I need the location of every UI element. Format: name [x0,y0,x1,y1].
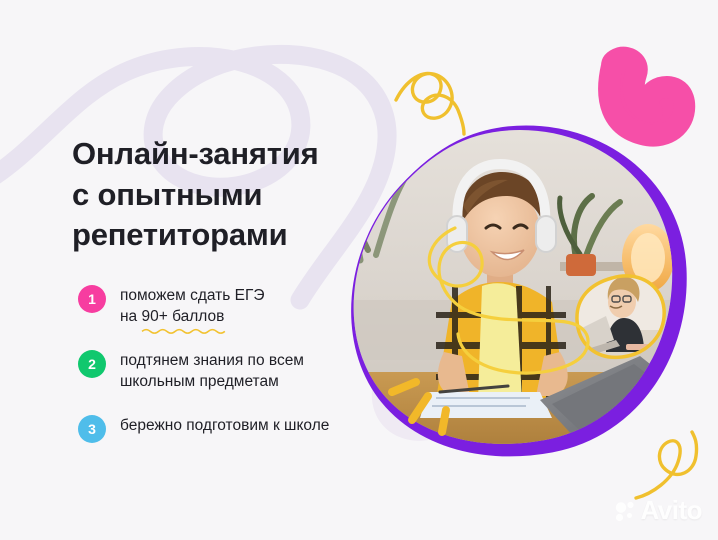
list-item: 2 подтянем знания по всем школьным предм… [78,349,378,392]
bullet-badge-3: 3 [78,415,106,443]
headline-line-1: Онлайн-занятия [72,134,402,175]
page-title: Онлайн-занятия с опытными репетиторами [72,134,402,256]
highlighted-score: 90+ баллов [142,307,225,328]
bullet-badge-2: 2 [78,350,106,378]
avito-logo-icon [613,499,637,523]
bullet-text-1: поможем сдать ЕГЭ на 90+ баллов [120,284,265,327]
bullet-2-line-2: школьным предметам [120,372,304,393]
headline-line-2: с опытными [72,175,402,216]
bullet-2-line-1: подтянем знания по всем [120,351,304,372]
list-item: 1 поможем сдать ЕГЭ на 90+ баллов [78,284,378,327]
text-layer: Онлайн-занятия с опытными репетиторами 1… [0,0,718,540]
bullet-text-2: подтянем знания по всем школьным предмет… [120,349,304,392]
wavy-underline-icon [142,327,225,334]
bullet-1-line-2: на 90+ баллов [120,307,265,328]
benefits-list: 1 поможем сдать ЕГЭ на 90+ баллов 2 подт… [78,284,378,465]
list-item: 3 бережно подготовим к школе [78,414,378,443]
bullet-1-line-1: поможем сдать ЕГЭ [120,286,265,307]
headline-line-3: репетиторами [72,215,402,256]
bullet-badge-1: 1 [78,285,106,313]
avito-wordmark: Avito [640,495,702,526]
bullet-3-line-1: бережно подготовим к школе [120,416,329,437]
promo-banner: Онлайн-занятия с опытными репетиторами 1… [0,0,718,540]
avito-watermark: Avito [613,495,702,526]
highlighted-score-text: 90+ баллов [142,308,225,325]
bullet-text-3: бережно подготовим к школе [120,414,329,437]
